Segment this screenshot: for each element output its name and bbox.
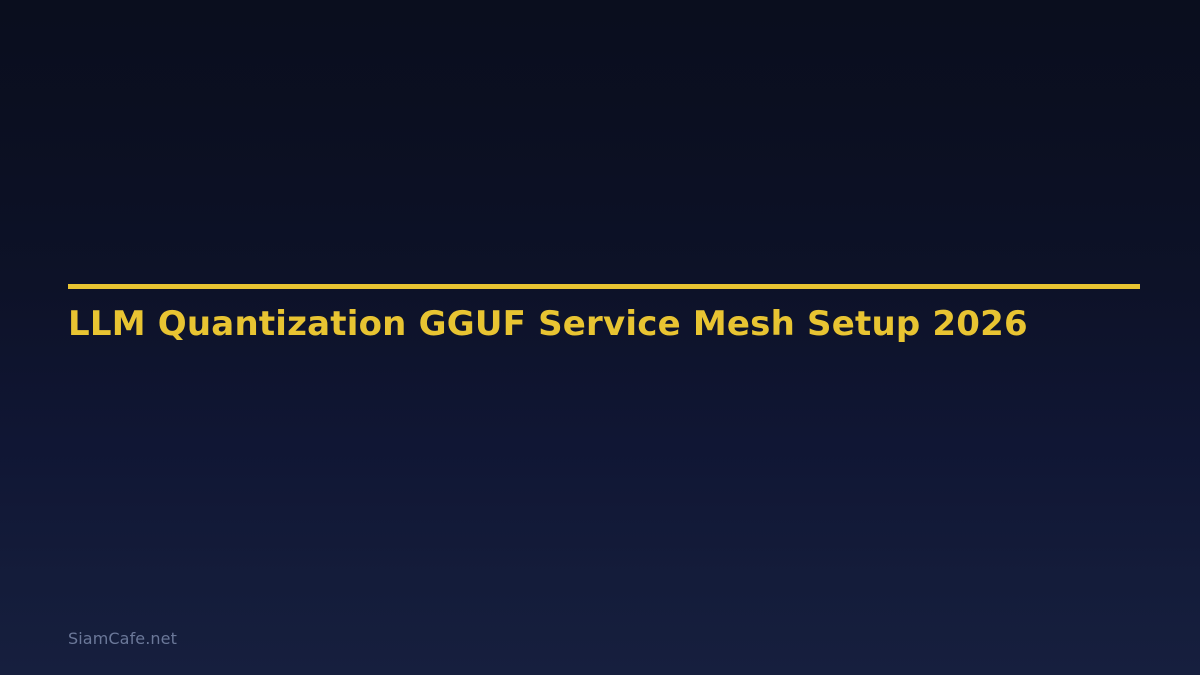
title-slide: LLM Quantization GGUF Service Mesh Setup… [0,0,1200,675]
title-accent-rule [68,284,1140,289]
footer-watermark: SiamCafe.net [68,628,177,650]
page-title: LLM Quantization GGUF Service Mesh Setup… [68,303,1148,345]
